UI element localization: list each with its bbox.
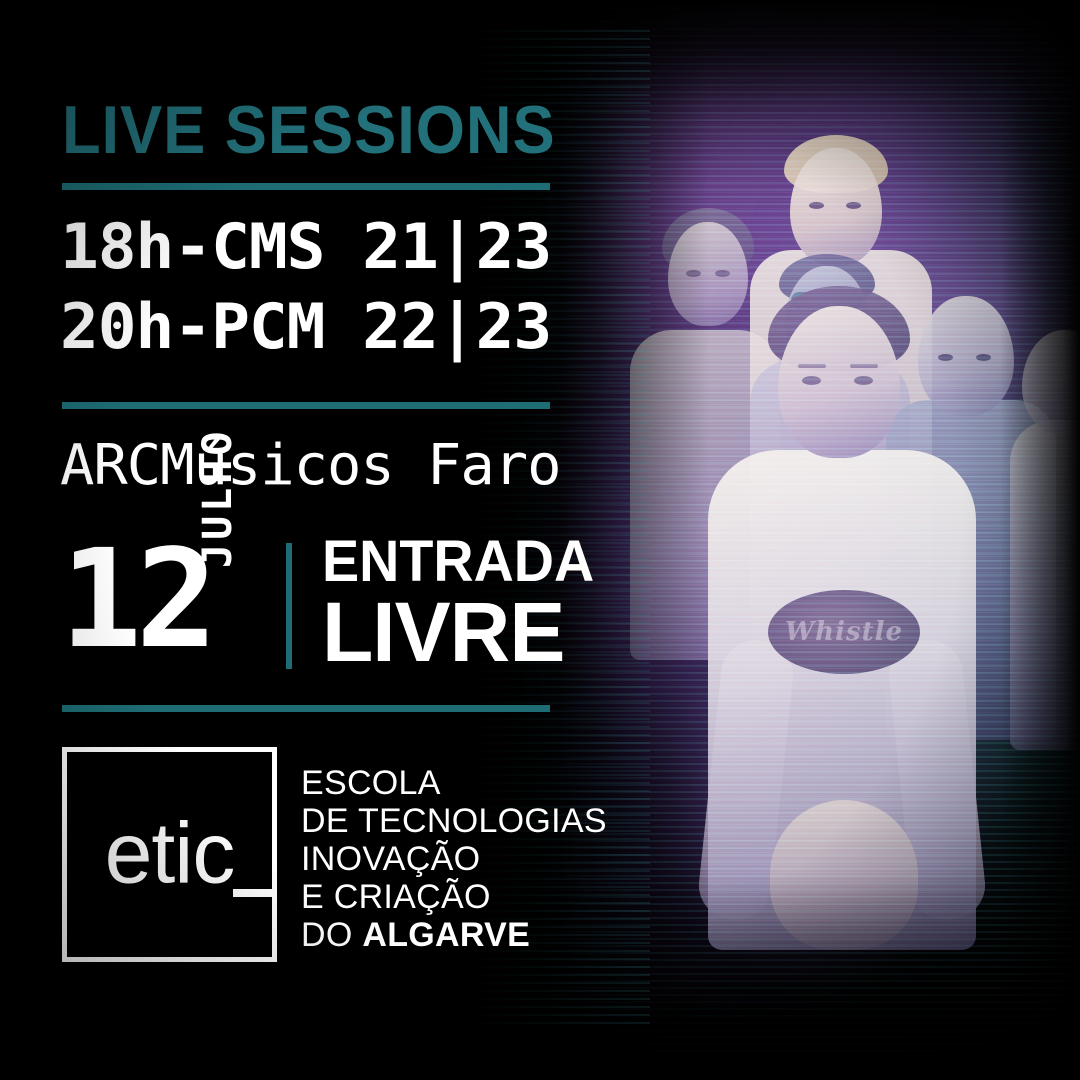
divider-middle [62,402,550,409]
poster-title: LIVE SESSIONS [62,96,556,164]
head [790,148,882,266]
clasped-hands [770,800,918,950]
divider-top [62,183,550,190]
etic-logo-wordmark: etic [105,810,235,896]
etic-logo-mark: etic [62,747,277,962]
venue-name: ARCMúsicos Faro [60,438,561,494]
admission-line-1: ENTRADA [322,534,594,590]
event-day: 12 [60,532,212,668]
etic-tagline-line-2: DE TECNOLOGIAS [301,802,607,840]
eye-left [938,354,953,361]
etic-tagline-line-5: DO ALGARVE [301,916,607,954]
eye-left [809,202,824,209]
poster-canvas: Whistle LIVE SESSIONS 18h-CMS 21|23 20h-… [0,0,1080,1080]
tshirt-graphic-text: Whistle [768,612,920,652]
eye-right [854,376,873,385]
etic-tagline-line-3: INOVAÇÃO [301,840,607,878]
etic-tagline-line-1: ESCOLA [301,764,607,802]
admission-line-2: LIVRE [322,592,606,672]
eye-left [686,270,701,277]
eye-left [802,376,821,385]
eye-right [715,270,730,277]
etic-tagline-line-4: E CRIAÇÃO [301,878,607,916]
admission-block: ENTRADA LIVRE [322,534,606,672]
etic-logo-block: etic ESCOLA DE TECNOLOGIAS INOVAÇÃO E CR… [62,747,607,962]
eye-right [976,354,991,361]
brow-right [850,364,878,368]
session-line-2: 20h-PCM 22|23 [60,296,551,358]
etic-logo-underscore [233,889,275,897]
etic-logo-tagline: ESCOLA DE TECNOLOGIAS INOVAÇÃO E CRIAÇÃO… [301,764,607,954]
head [778,306,900,458]
head [918,296,1014,416]
divider-bottom [62,705,550,712]
etic-tagline-prefix: DO [301,916,362,954]
event-date: 12 JULHO [60,536,270,676]
etic-tagline-algarve: ALGARVE [362,916,530,954]
session-line-1: 18h-CMS 21|23 [60,216,551,278]
eye-right [846,202,861,209]
info-panel: LIVE SESSIONS 18h-CMS 21|23 20h-PCM 22|2… [0,0,600,1080]
event-month: JULHO [198,428,238,568]
torso [1010,420,1080,750]
divider-vertical [286,543,292,669]
head [668,222,748,326]
brow-left [798,364,826,368]
